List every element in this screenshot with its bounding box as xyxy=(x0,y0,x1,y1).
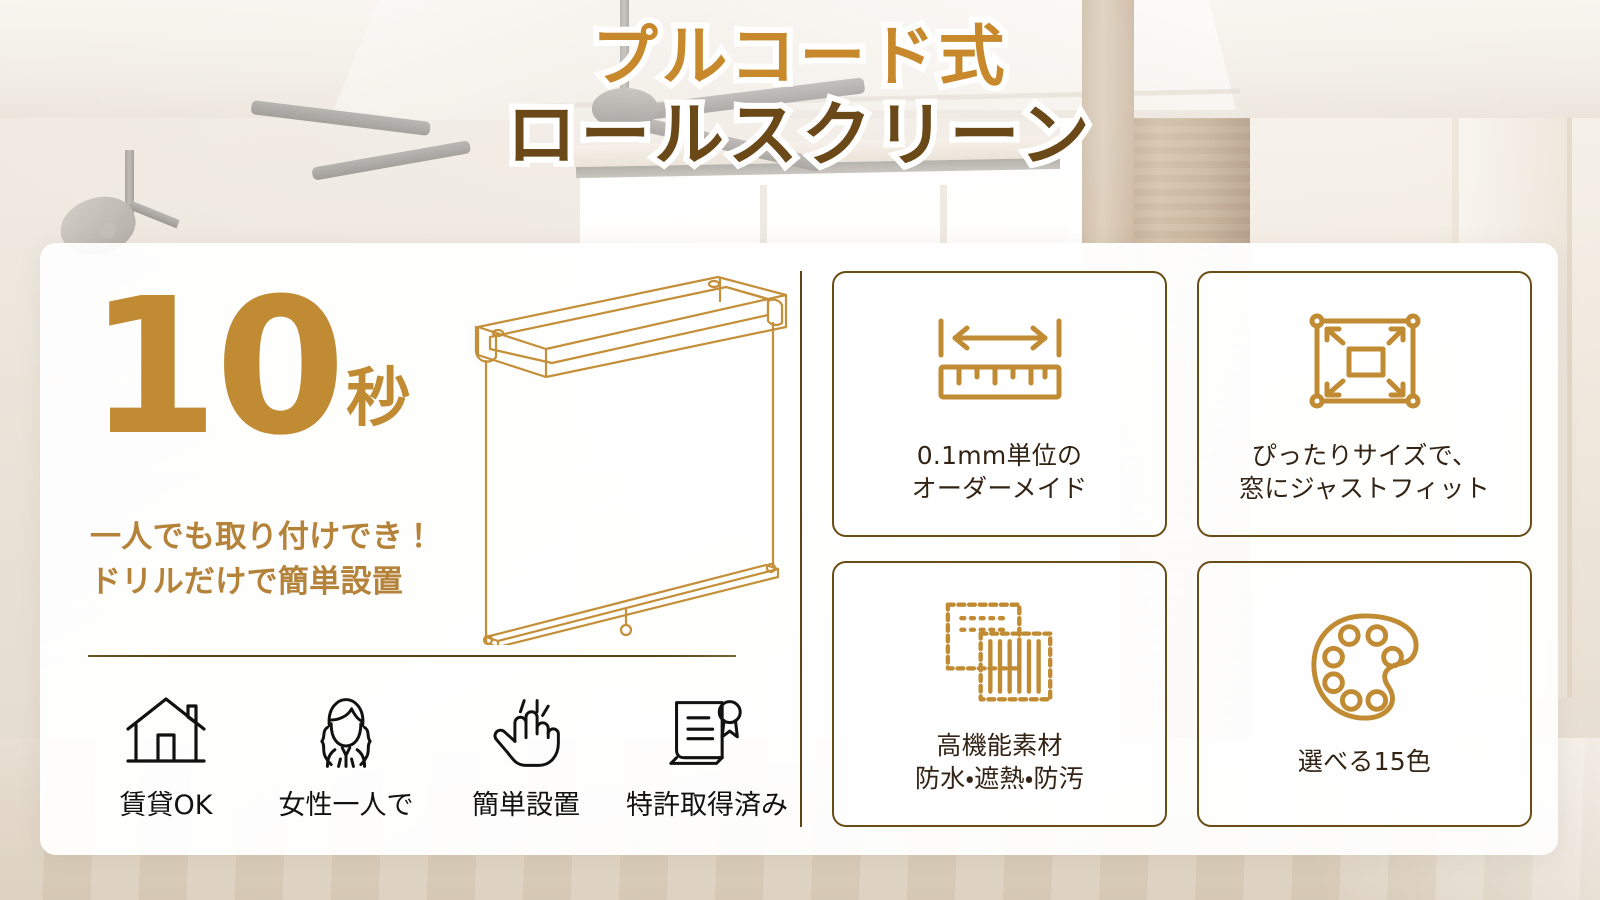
woman-icon xyxy=(266,683,426,771)
feature-label: 特許取得済み xyxy=(626,783,786,822)
feature-label: 賃貸OK xyxy=(86,783,246,822)
feature-row: 賃貸OK 女性一人で xyxy=(86,683,786,822)
feature-item-patented: 特許取得済み xyxy=(626,683,786,822)
install-time-highlight: 10 秒 xyxy=(88,291,410,445)
patent-certificate-icon xyxy=(626,683,786,771)
vertical-divider xyxy=(800,271,802,827)
feature-card-grid: 0.1mm単位の オーダーメイド xyxy=(832,271,1532,827)
feature-card-color-choice[interactable]: 選べる15色 xyxy=(1197,561,1532,827)
feature-card-label: ぴったりサイズで、 窓にジャストフィット xyxy=(1239,439,1490,506)
house-icon xyxy=(86,683,246,771)
color-palette-icon xyxy=(1308,603,1422,731)
install-subtext-line-1: 一人でも取り付けでき！ xyxy=(90,515,434,560)
feature-card-label: 0.1mm単位の オーダーメイド xyxy=(912,439,1088,506)
feature-card-high-performance-fabric[interactable]: 高機能素材 防水・遮熱・防汚 xyxy=(832,561,1167,827)
pointing-hand-icon xyxy=(446,683,606,771)
headline: プルコード式 ロールスクリーン xyxy=(0,22,1600,173)
install-time-number: 10 xyxy=(88,291,342,445)
install-subtext: 一人でも取り付けでき！ ドリルだけで簡単設置 xyxy=(90,515,434,606)
feature-label: 女性一人で xyxy=(266,783,426,822)
horizontal-divider xyxy=(88,655,736,657)
feature-card-label: 高機能素材 防水・遮熱・防汚 xyxy=(915,729,1084,796)
resize-frame-icon xyxy=(1305,297,1425,425)
feature-card-label: 選べる15色 xyxy=(1298,745,1431,779)
feature-label: 簡単設置 xyxy=(446,783,606,822)
feature-item-easy-install: 簡単設置 xyxy=(446,683,606,822)
main-panel: 10 秒 一人でも取り付けでき！ ドリルだけで簡単設置 xyxy=(40,243,1558,855)
feature-card-custom-size[interactable]: 0.1mm単位の オーダーメイド xyxy=(832,271,1167,537)
roller-screen-illustration xyxy=(468,265,798,645)
feature-item-rental-ok: 賃貸OK xyxy=(86,683,246,822)
feature-card-just-fit[interactable]: ぴったりサイズで、 窓にジャストフィット xyxy=(1197,271,1532,537)
feature-item-woman-alone: 女性一人で xyxy=(266,683,426,822)
headline-line-2: ロールスクリーン xyxy=(0,99,1600,173)
fabric-swatches-icon xyxy=(940,587,1060,715)
left-section: 10 秒 一人でも取り付けでき！ ドリルだけで簡単設置 xyxy=(40,243,800,855)
ruler-measure-icon xyxy=(933,297,1067,425)
headline-line-1: プルコード式 xyxy=(0,22,1600,91)
install-time-unit: 秒 xyxy=(346,347,410,439)
install-subtext-line-2: ドリルだけで簡単設置 xyxy=(90,560,434,605)
